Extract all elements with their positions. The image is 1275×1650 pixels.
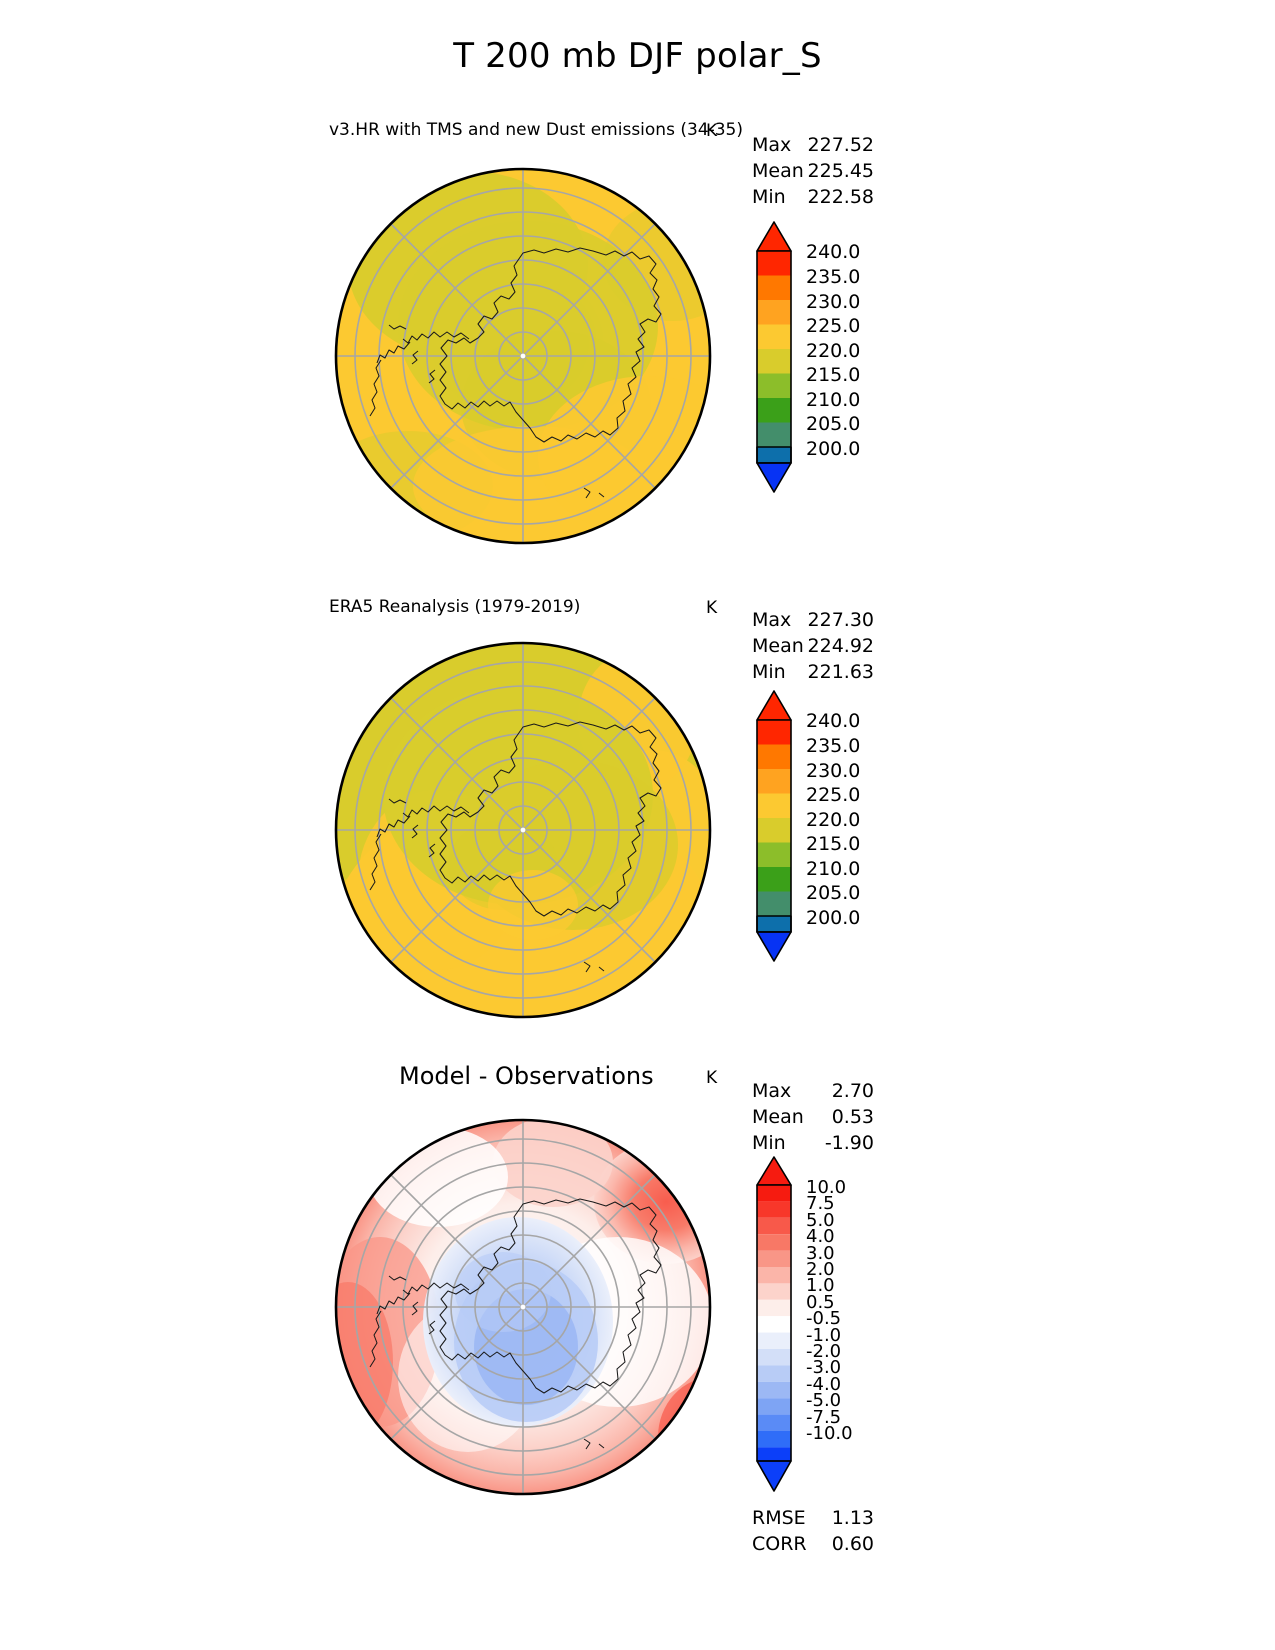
stat-row: Max227.30 — [752, 607, 874, 633]
footer-stats: RMSE1.13 CORR0.60 — [752, 1505, 874, 1557]
footer-stat-row: CORR0.60 — [752, 1531, 874, 1557]
panel-difference: Model - Observations K Max2.70 Mean0.53 … — [0, 1055, 1275, 1650]
stat-row: Mean224.92 — [752, 633, 874, 659]
polar-map-difference[interactable] — [318, 1107, 728, 1507]
stats-model: Max227.52 Mean225.45 Min222.58 — [752, 132, 874, 210]
pole-marker — [521, 828, 526, 833]
pole-marker — [521, 354, 526, 359]
polar-map-model[interactable] — [318, 156, 728, 556]
panel-title-model: v3.HR with TMS and new Dust emissions (3… — [329, 120, 743, 140]
stat-row: Mean0.53 — [752, 1104, 874, 1130]
colorbar-observations[interactable] — [752, 687, 796, 965]
stat-row: Min-1.90 — [752, 1130, 874, 1156]
stat-row: Mean225.45 — [752, 158, 874, 184]
panel-model: v3.HR with TMS and new Dust emissions (3… — [0, 0, 1275, 560]
colorbar-ticklabels-difference: 10.0 7.5 5.0 4.0 3.0 2.0 1.0 0.5 -0.5 -1… — [806, 1155, 916, 1495]
stats-difference: Max2.70 Mean0.53 Min-1.90 — [752, 1078, 874, 1156]
panel-observations: ERA5 Reanalysis (1979-2019) K Max227.30 … — [0, 560, 1275, 1055]
stat-row: Max2.70 — [752, 1078, 874, 1104]
footer-stat-row: RMSE1.13 — [752, 1505, 874, 1531]
unit-label-model: K — [706, 121, 717, 141]
stats-observations: Max227.30 Mean224.92 Min221.63 — [752, 607, 874, 685]
stat-row: Max227.52 — [752, 132, 874, 158]
colorbar-model[interactable] — [752, 218, 796, 496]
figure-canvas: T 200 mb DJF polar_S v3.HR with TMS and … — [0, 0, 1275, 1650]
panel-title-difference: Model - Observations — [399, 1062, 654, 1090]
unit-label-difference: K — [706, 1068, 717, 1088]
polar-map-observations[interactable] — [318, 630, 728, 1030]
panel-title-observations: ERA5 Reanalysis (1979-2019) — [329, 597, 580, 617]
colorbar-ticklabels-observations: 240.0 235.0 230.0 225.0 220.0 215.0 210.… — [806, 687, 906, 965]
colorbar-ticklabels-model: 240.0 235.0 230.0 225.0 220.0 215.0 210.… — [806, 218, 906, 496]
stat-row: Min222.58 — [752, 184, 874, 210]
unit-label-observations: K — [706, 598, 717, 618]
pole-marker — [521, 1305, 526, 1310]
stat-row: Min221.63 — [752, 659, 874, 685]
colorbar-difference[interactable] — [752, 1155, 796, 1495]
